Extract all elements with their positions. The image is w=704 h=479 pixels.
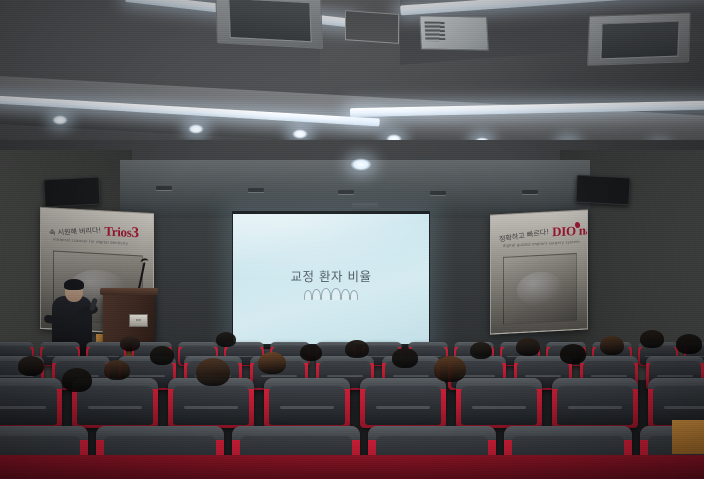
beam-slot [522,190,538,194]
auditorium-seat [360,378,446,428]
audience-head [300,344,322,361]
beam-slot [248,188,264,192]
foreground-seat-row [0,455,704,479]
right-wood-panel [672,420,704,454]
audience-head [470,342,492,359]
downlight-icon [52,115,68,125]
auditorium-photo: 교정 환자 비율 속 시원해 버리다! Trios3 intraoral sca… [0,0,704,479]
tooth-icon [312,289,321,300]
seat-back-pad [77,386,153,425]
audience-head [120,336,140,351]
audience-head [345,340,369,358]
banner-brand-name: DIO navi. [552,222,588,241]
ac-inner-grille [600,20,679,59]
downlight-icon [188,124,204,134]
ac-inner-grille [229,0,311,42]
screen-surface: 교정 환자 비율 [233,214,429,344]
audience-head [216,332,236,347]
ac-cassette-left [215,0,323,49]
ac-cassette-right [587,12,691,66]
seat-back-pad [557,386,633,425]
audience-head [62,368,92,392]
auditorium-seat [456,378,542,428]
auditorium-seat [552,378,638,428]
wall-speaker-right [575,175,630,206]
auditorium-seat [0,378,62,428]
audience-head [516,338,540,356]
teeth-row-icon [233,288,429,300]
ceiling-spotlight-icon [350,158,372,171]
projection-screen: 교정 환자 비율 [232,211,430,347]
audience-head [18,356,44,376]
audience-head [258,352,286,374]
tooth-icon [350,290,359,300]
auditorium-seat [264,378,350,428]
presenter-hair [64,279,84,290]
podium-top [100,288,158,295]
audience-head [640,330,664,348]
podium-plaque: DIO [129,314,148,327]
slide-title: 교정 환자 비율 [233,266,429,285]
seat-back-pad [365,386,441,425]
wall-speaker-left [43,177,100,208]
seat-back-pad [461,386,537,425]
audience-head [150,346,174,365]
audience-head [104,360,130,380]
beam-slot [338,190,354,194]
audience-head [196,358,230,386]
banner-dionavi: 정확하고 빠르다! DIO navi. digital guided impla… [490,209,588,334]
audience-head [600,336,624,355]
audience-head [434,356,466,382]
tooth-icon [304,290,313,300]
tooth-icon [341,289,350,300]
audience-head [392,348,418,368]
downlight-icon [292,129,308,139]
audience-head [560,344,586,364]
seat-back-pad [173,386,249,425]
ceiling-equipment-box [419,15,489,50]
seat-back-pad [0,386,57,425]
ceiling-vent-small [345,10,399,44]
tooth-icon [321,288,331,300]
banner-photo [503,253,577,325]
tooth-icon [331,288,341,300]
seat-back-pad [269,386,345,425]
audience-head [676,334,702,354]
beam-slot [156,186,172,190]
beam-slot [430,191,446,195]
